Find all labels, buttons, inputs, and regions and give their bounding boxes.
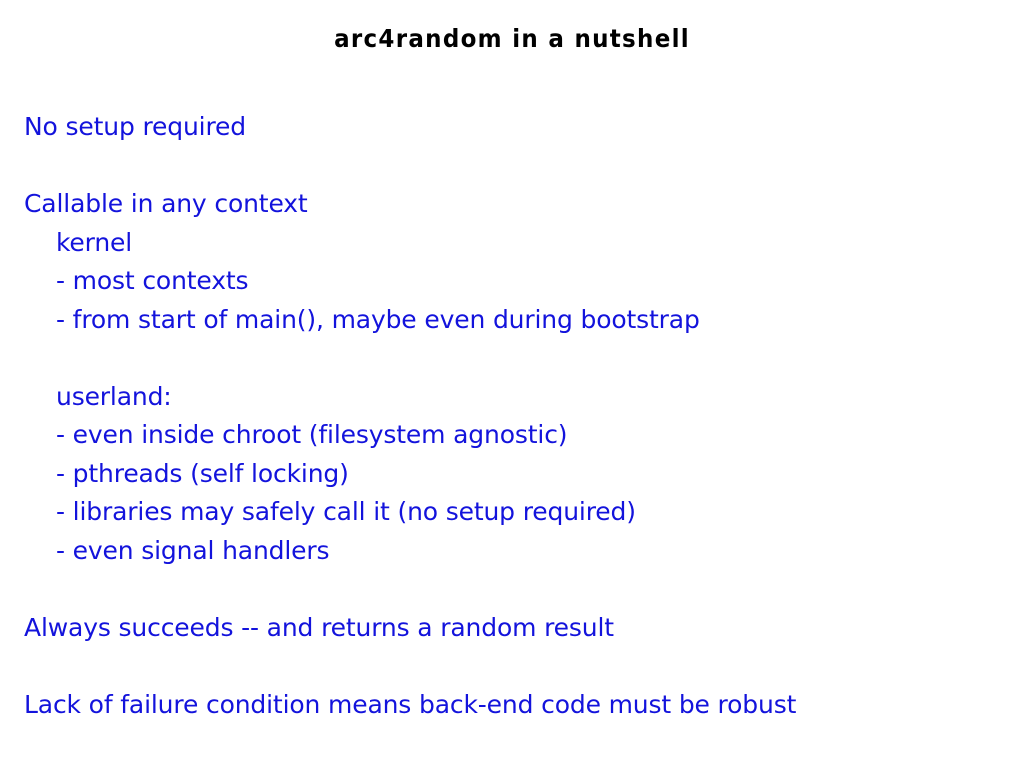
spacer-line — [24, 570, 1000, 609]
presentation-slide: arc4random in a nutshell No setup requir… — [0, 0, 1024, 768]
text-line: Always succeeds -- and returns a random … — [24, 609, 1000, 648]
text-line: Lack of failure condition means back-end… — [24, 686, 1000, 725]
text-line: No setup required — [24, 108, 1000, 147]
bullet-line: - even inside chroot (filesystem agnosti… — [24, 416, 1000, 455]
bullet-line: - even signal handlers — [24, 532, 1000, 571]
text-line: userland: — [24, 378, 1000, 417]
slide-title: arc4random in a nutshell — [41, 24, 983, 54]
bullet-line: - from start of main(), maybe even durin… — [24, 301, 1000, 340]
bullet-line: - libraries may safely call it (no setup… — [24, 493, 1000, 532]
spacer-line — [24, 339, 1000, 378]
text-line: Callable in any context — [24, 185, 1000, 224]
bullet-line: - pthreads (self locking) — [24, 455, 1000, 494]
slide-body: No setup requiredCallable in any context… — [24, 108, 1000, 724]
spacer-line — [24, 647, 1000, 686]
spacer-line — [24, 147, 1000, 186]
text-line: kernel — [24, 224, 1000, 263]
bullet-line: - most contexts — [24, 262, 1000, 301]
